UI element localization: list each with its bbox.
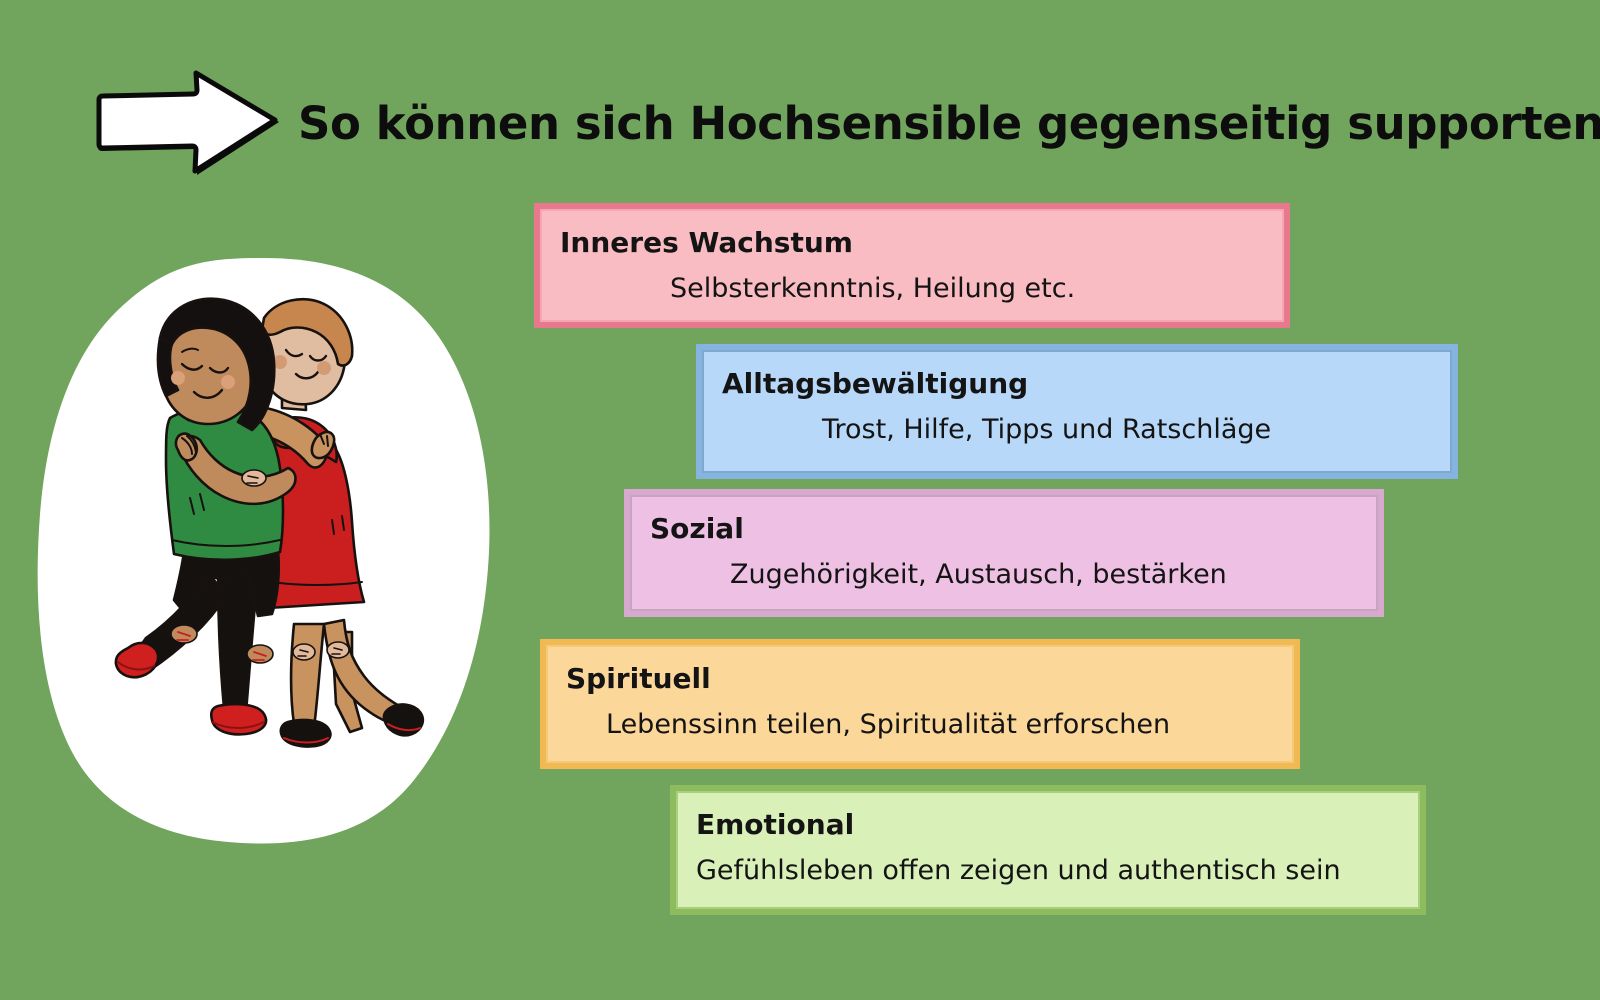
arrow-right-icon xyxy=(95,68,285,180)
category-description: Lebenssinn teilen, Spiritualität erforsc… xyxy=(566,705,1274,745)
category-description: Zugehörigkeit, Austausch, bestärken xyxy=(650,555,1358,595)
category-description: Gefühlsleben offen zeigen und authentisc… xyxy=(696,851,1400,891)
category-box-sozial[interactable]: Sozial Zugehörigkeit, Austausch, bestärk… xyxy=(624,489,1384,617)
category-box-inneres-wachstum[interactable]: Inneres Wachstum Selbsterkenntnis, Heilu… xyxy=(534,203,1290,328)
category-description: Selbsterkenntnis, Heilung etc. xyxy=(560,269,1264,309)
category-title: Emotional xyxy=(696,805,1400,845)
page-title: So können sich Hochsensible gegenseitig … xyxy=(298,96,1558,152)
two-people-hugging-illustration xyxy=(32,252,502,852)
category-box-spirituell[interactable]: Spirituell Lebenssinn teilen, Spirituali… xyxy=(540,639,1300,769)
category-title: Alltagsbewältigung xyxy=(722,364,1432,404)
category-description: Trost, Hilfe, Tipps und Ratschläge xyxy=(722,410,1432,450)
category-title: Spirituell xyxy=(566,659,1274,699)
category-title: Inneres Wachstum xyxy=(560,223,1264,263)
category-box-emotional[interactable]: Emotional Gefühlsleben offen zeigen und … xyxy=(670,785,1426,915)
category-box-alltagsbewaeltigung[interactable]: Alltagsbewältigung Trost, Hilfe, Tipps u… xyxy=(696,344,1458,479)
infographic-canvas: So können sich Hochsensible gegenseitig … xyxy=(0,0,1600,1000)
category-title: Sozial xyxy=(650,509,1358,549)
